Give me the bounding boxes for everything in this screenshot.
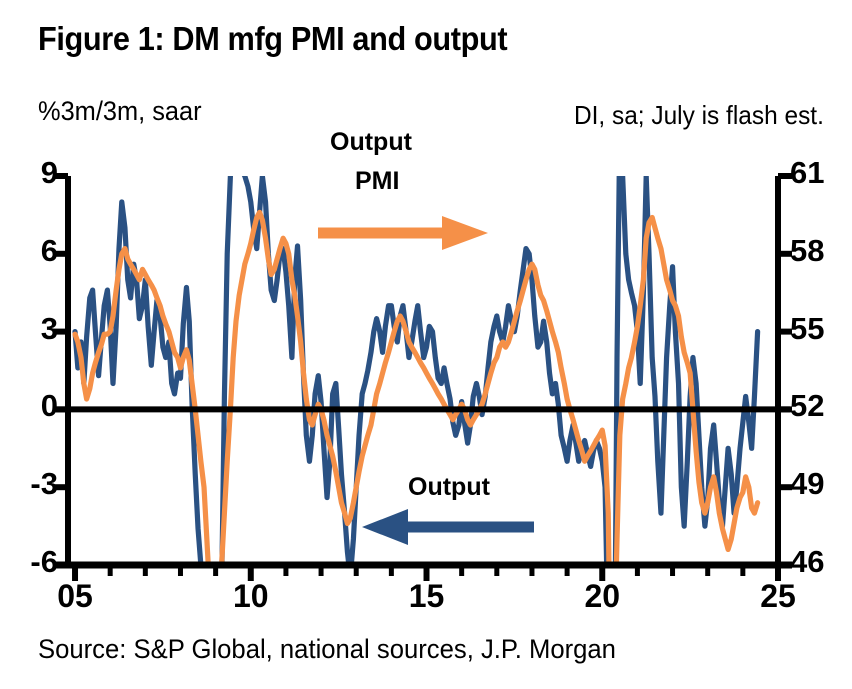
y-axis-right-label-49: 49 [790, 466, 824, 502]
x-axis-label-10: 10 [233, 578, 269, 615]
y-axis-right-label-58: 58 [790, 233, 824, 269]
y-axis-left-label--3: -3 [30, 466, 58, 502]
y-axis-left-label-9: 9 [41, 155, 58, 191]
source-note: Source: S&P Global, national sources, J.… [38, 634, 616, 665]
y-axis-right-label-61: 61 [790, 155, 824, 191]
y-axis-left-label-0: 0 [41, 388, 58, 424]
x-axis-label-25: 25 [760, 578, 796, 615]
y-axis-left-label-6: 6 [41, 233, 58, 269]
x-axis-label-05: 05 [57, 578, 93, 615]
annotation-pmi: PMI [355, 167, 399, 196]
annotation-arrowhead-left [362, 509, 408, 545]
x-axis-label-15: 15 [409, 578, 445, 615]
annotation-output-top: Output [330, 128, 412, 157]
annotation-arrowhead-right [442, 216, 488, 250]
annotation-output-bottom: Output [408, 473, 490, 502]
y-axis-left-label--6: -6 [30, 544, 58, 580]
x-axis-label-20: 20 [584, 578, 620, 615]
figure-container: Figure 1: DM mfg PMI and output %3m/3m, … [0, 0, 852, 689]
y-axis-right-label-46: 46 [790, 544, 824, 580]
y-axis-right-label-55: 55 [790, 311, 824, 347]
y-axis-right-label-52: 52 [790, 388, 824, 424]
y-axis-left-label-3: 3 [41, 311, 58, 347]
